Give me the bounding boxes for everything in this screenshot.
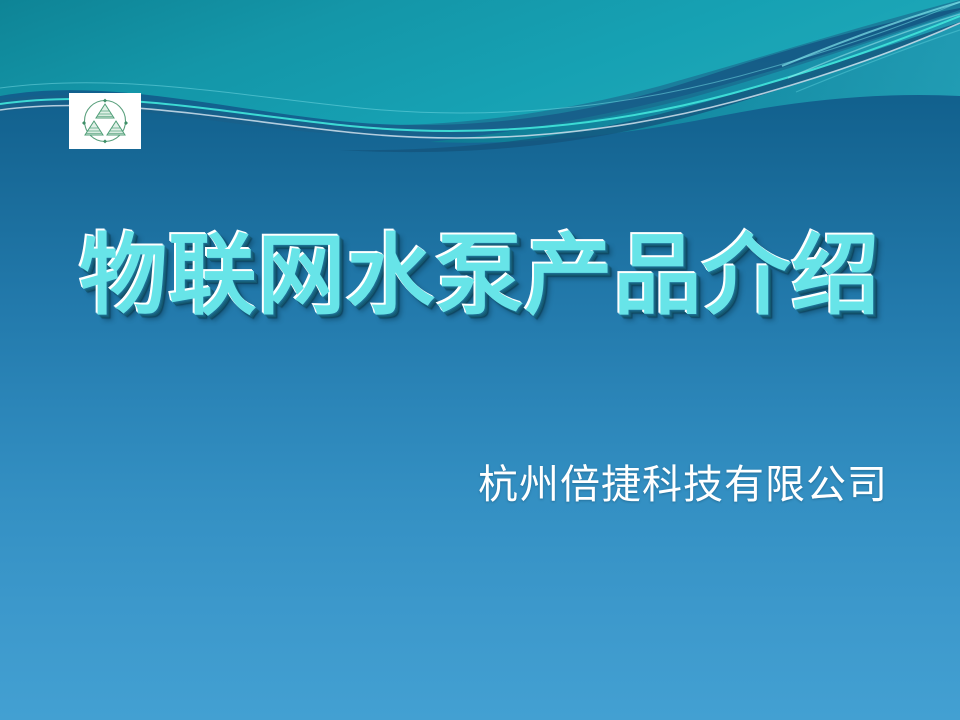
logo-pyramid-top (96, 104, 114, 118)
slide-title[interactable]: 物联网水泵产品介绍 (0, 228, 960, 323)
presentation-title-slide: 物联网水泵产品介绍 杭州倍捷科技有限公司 (0, 0, 960, 720)
slide-subtitle-text: 杭州倍捷科技有限公司 (478, 462, 888, 508)
logo-pyramid-right (107, 121, 125, 135)
wave-cyan-line-upper (0, 2, 960, 113)
company-logo[interactable] (69, 93, 141, 149)
wave-stripe-b (788, 14, 960, 78)
wave-navy-wedge (340, 22, 960, 152)
wave-teal-right (430, 10, 960, 143)
slide-title-text: 物联网水泵产品介绍 (79, 228, 880, 323)
wave-cyan-line (0, 16, 960, 131)
wave-pale-line (0, 23, 960, 138)
logo-pyramid-left (85, 121, 103, 135)
slide-subtitle[interactable]: 杭州倍捷科技有限公司 (0, 462, 960, 508)
wave-navy-ribbon (0, 0, 960, 136)
wave-teal-main (0, 0, 960, 125)
wave-stripe-a (782, 2, 960, 66)
wave-ribbon-band (0, 0, 960, 230)
wave-stripe-c (796, 30, 960, 92)
